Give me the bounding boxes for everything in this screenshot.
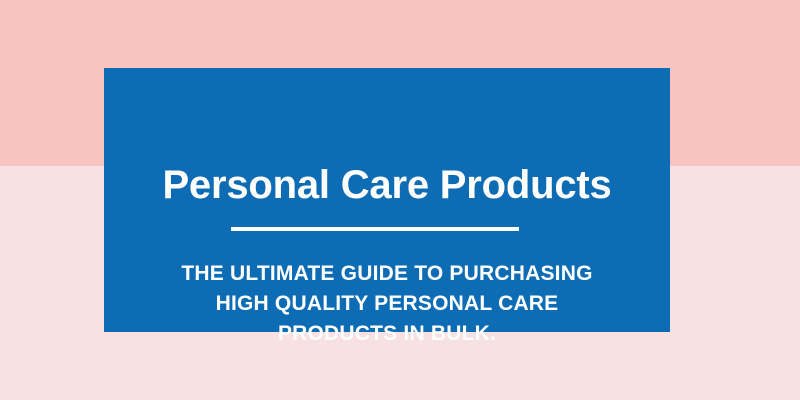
page-title: Personal Care Products: [104, 165, 670, 205]
subtitle-line-1: THE ULTIMATE GUIDE TO PURCHASING: [104, 259, 670, 289]
subtitle-line-2: HIGH QUALITY PERSONAL CARE: [104, 289, 670, 319]
title-divider: [231, 227, 519, 231]
banner-canvas: Personal Care Products THE ULTIMATE GUID…: [0, 0, 800, 400]
page-subtitle: THE ULTIMATE GUIDE TO PURCHASING HIGH QU…: [104, 259, 670, 349]
hero-panel: Personal Care Products THE ULTIMATE GUID…: [104, 68, 670, 332]
subtitle-line-3: PRODUCTS IN BULK.: [104, 319, 670, 349]
